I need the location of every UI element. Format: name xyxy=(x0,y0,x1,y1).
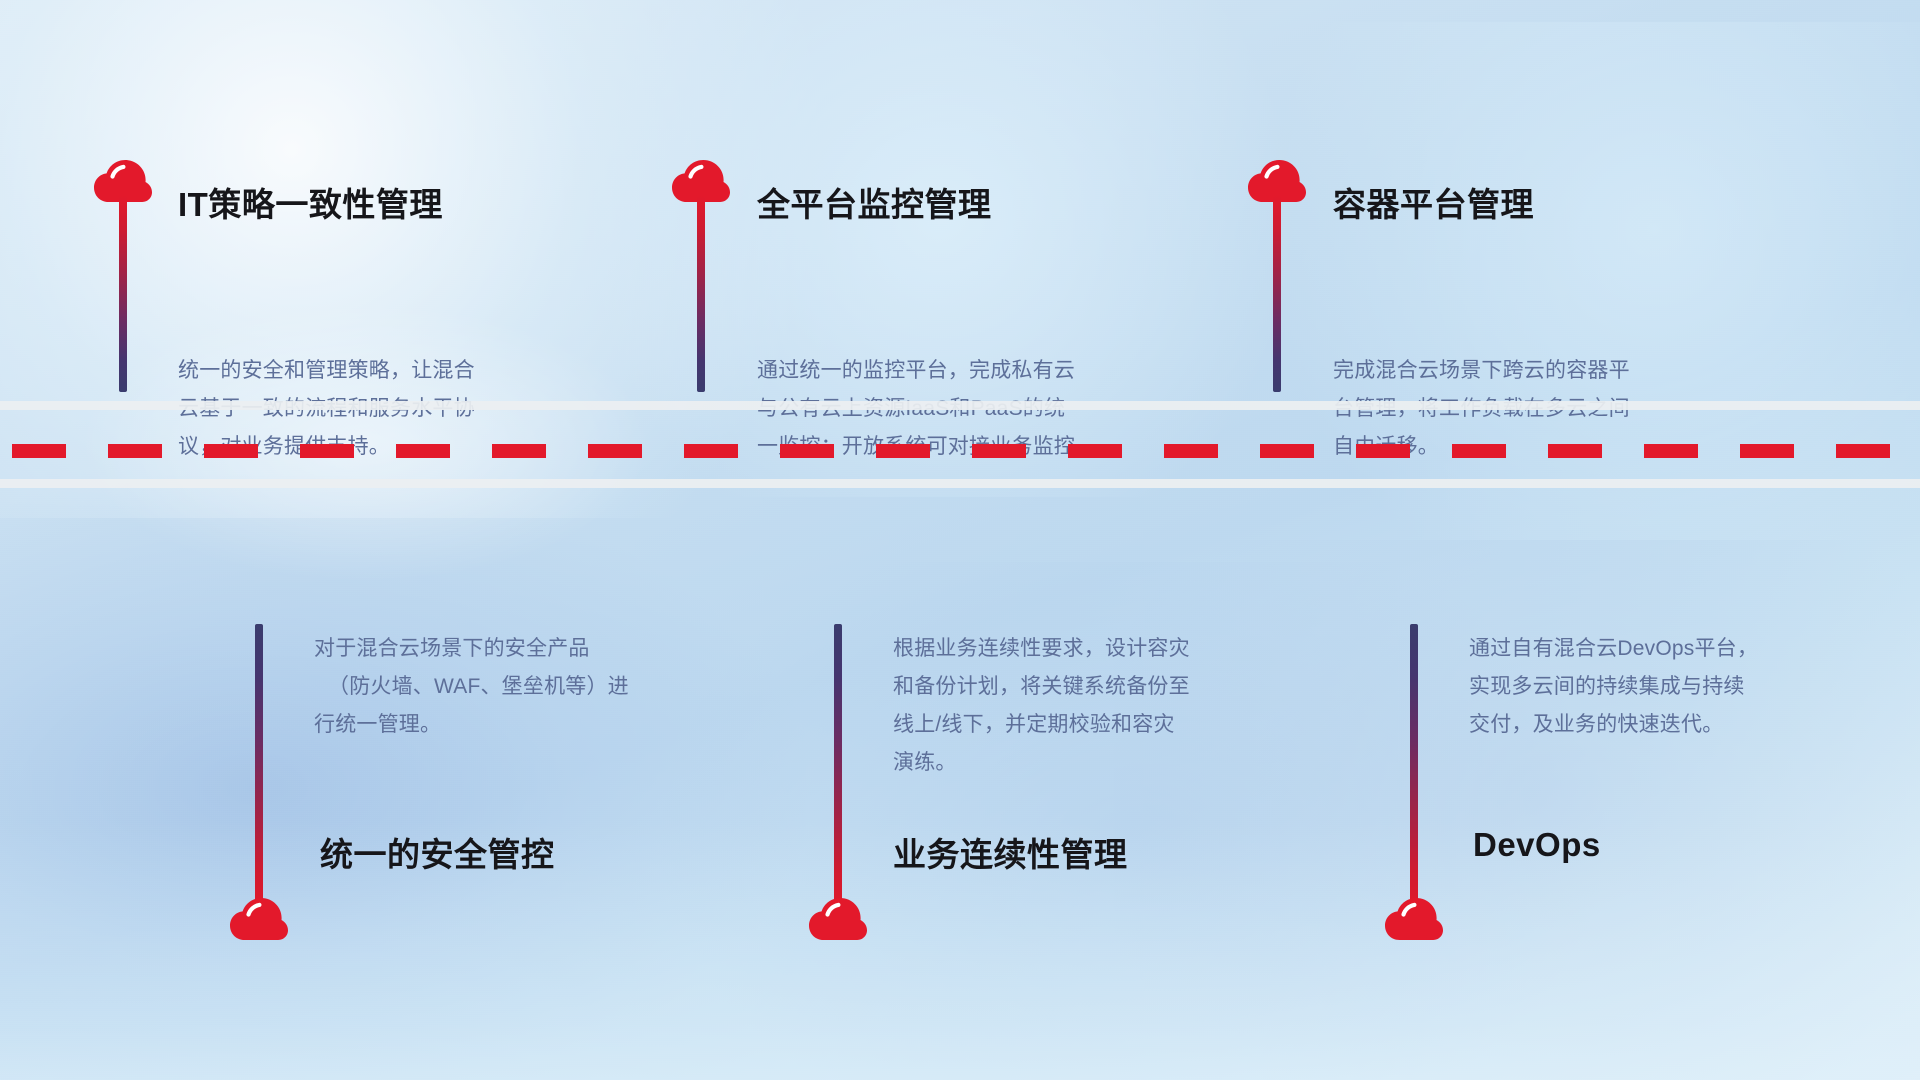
infographic-canvas: IT策略一致性管理 统一的安全和管理策略，让混合 云基于一致的流程和服务水平协 … xyxy=(0,0,1920,1080)
connector-line xyxy=(834,624,842,914)
card-body: 对于混合云场景下的安全产品 （防火墙、WAF、堡垒机等）进 行统一管理。 xyxy=(314,630,629,744)
divider-band-top xyxy=(0,401,1920,410)
card-body: 通过自有混合云DevOps平台， 实现多云间的持续集成与持续 交付，及业务的快速… xyxy=(1469,630,1758,744)
card-heading: DevOps xyxy=(1473,826,1601,864)
connector-line xyxy=(1273,196,1281,392)
connector-line xyxy=(119,196,127,392)
background-texture xyxy=(0,0,1920,1080)
cloud-icon xyxy=(230,898,288,942)
connector-line xyxy=(255,624,263,914)
card-heading: IT策略一致性管理 xyxy=(178,178,443,226)
red-dashed-divider xyxy=(0,444,1920,458)
connector-line xyxy=(1410,624,1418,914)
cloud-icon xyxy=(809,898,867,942)
connector-line xyxy=(697,196,705,392)
card-heading: 全平台监控管理 xyxy=(757,178,992,226)
card-heading: 容器平台管理 xyxy=(1333,178,1534,226)
cloud-icon xyxy=(1385,898,1443,942)
divider-band-bottom xyxy=(0,479,1920,488)
card-body: 根据业务连续性要求，设计容灾 和备份计划，将关键系统备份至 线上/线下，并定期校… xyxy=(893,630,1190,782)
card-heading: 统一的安全管控 xyxy=(320,828,555,876)
card-heading: 业务连续性管理 xyxy=(893,828,1128,876)
